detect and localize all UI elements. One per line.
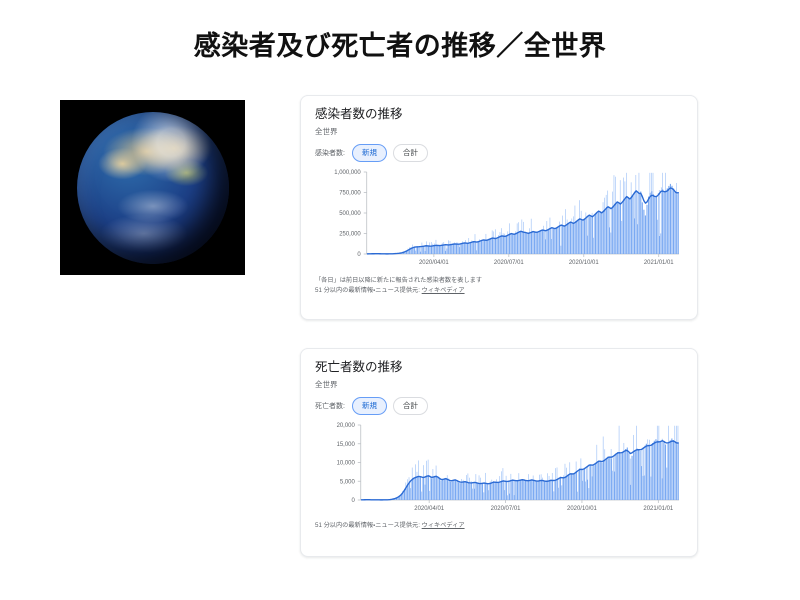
card-deaths-chip-row: 死亡者数: 新規 合計 [315,397,683,415]
card-deaths-source-link[interactable]: ウィキペディア [422,522,465,529]
card-deaths-chip-total[interactable]: 合計 [393,397,428,415]
svg-text:2021/01/01: 2021/01/01 [643,505,673,511]
card-cases-footnotes: 「各日」は前日以降に新たに報告された感染者数を表します 51 分以内の最新情報・… [301,272,697,307]
chart-cases[interactable]: 0250,000500,000750,0001,000,0002020/04/0… [315,168,683,272]
svg-text:10,000: 10,000 [337,460,356,466]
card-cases-footnote-1: 「各日」は前日以降に新たに報告された感染者数を表します [315,276,683,287]
card-cases-source-link[interactable]: ウィキペディア [422,287,465,294]
svg-text:5,000: 5,000 [340,479,356,485]
svg-text:1,000,000: 1,000,000 [334,170,361,176]
card-cases-source-prefix: 51 分以内の最新情報・ニュース提供元: [315,287,422,294]
card-deaths-source-prefix: 51 分以内の最新情報・ニュース提供元: [315,522,422,529]
earth-globe-image [60,100,245,275]
svg-text:0: 0 [357,252,361,258]
card-cases: 感染者数の推移 全世界 感染者数: 新規 合計 0250,000500,0007… [300,95,698,320]
card-cases-chip-row: 感染者数: 新規 合計 [315,144,683,162]
chart-cases-svg[interactable]: 0250,000500,000750,0001,000,0002020/04/0… [315,168,683,272]
svg-text:0: 0 [351,498,355,504]
card-deaths-footnotes: 51 分以内の最新情報・ニュース提供元: ウィキペディア [301,517,697,541]
svg-text:2020/07/01: 2020/07/01 [494,259,524,265]
card-deaths: 死亡者数の推移 全世界 死亡者数: 新規 合計 05,00010,00015,0… [300,348,698,557]
card-cases-footnote-2: 51 分以内の最新情報・ニュース提供元: ウィキペディア [315,286,683,297]
svg-text:2020/04/01: 2020/04/01 [414,505,444,511]
card-cases-chip-new[interactable]: 新規 [352,144,387,162]
svg-text:250,000: 250,000 [339,231,361,237]
svg-text:2021/01/01: 2021/01/01 [644,259,674,265]
card-deaths-footnote-1: 51 分以内の最新情報・ニュース提供元: ウィキペディア [315,521,683,532]
card-deaths-subtitle: 全世界 [315,380,683,389]
svg-text:2020/10/01: 2020/10/01 [567,505,597,511]
card-deaths-chip-new[interactable]: 新規 [352,397,387,415]
svg-text:15,000: 15,000 [337,441,356,447]
svg-text:20,000: 20,000 [337,423,356,429]
svg-text:2020/10/01: 2020/10/01 [569,259,599,265]
globe-sphere [77,112,229,264]
card-deaths-chip-label: 死亡者数: [315,401,345,411]
chart-deaths-svg[interactable]: 05,00010,00015,00020,0002020/04/012020/0… [315,421,683,517]
card-cases-subtitle: 全世界 [315,127,683,136]
card-cases-chip-label: 感染者数: [315,148,345,158]
chart-deaths[interactable]: 05,00010,00015,00020,0002020/04/012020/0… [315,421,683,517]
svg-text:750,000: 750,000 [339,190,361,196]
svg-text:2020/07/01: 2020/07/01 [491,505,521,511]
card-cases-chip-total[interactable]: 合計 [393,144,428,162]
svg-text:500,000: 500,000 [339,211,361,217]
page-title: 感染者及び死亡者の推移／全世界 [0,30,800,64]
svg-text:2020/04/01: 2020/04/01 [419,259,449,265]
card-cases-title: 感染者数の推移 [315,107,683,122]
card-deaths-title: 死亡者数の推移 [315,360,683,375]
